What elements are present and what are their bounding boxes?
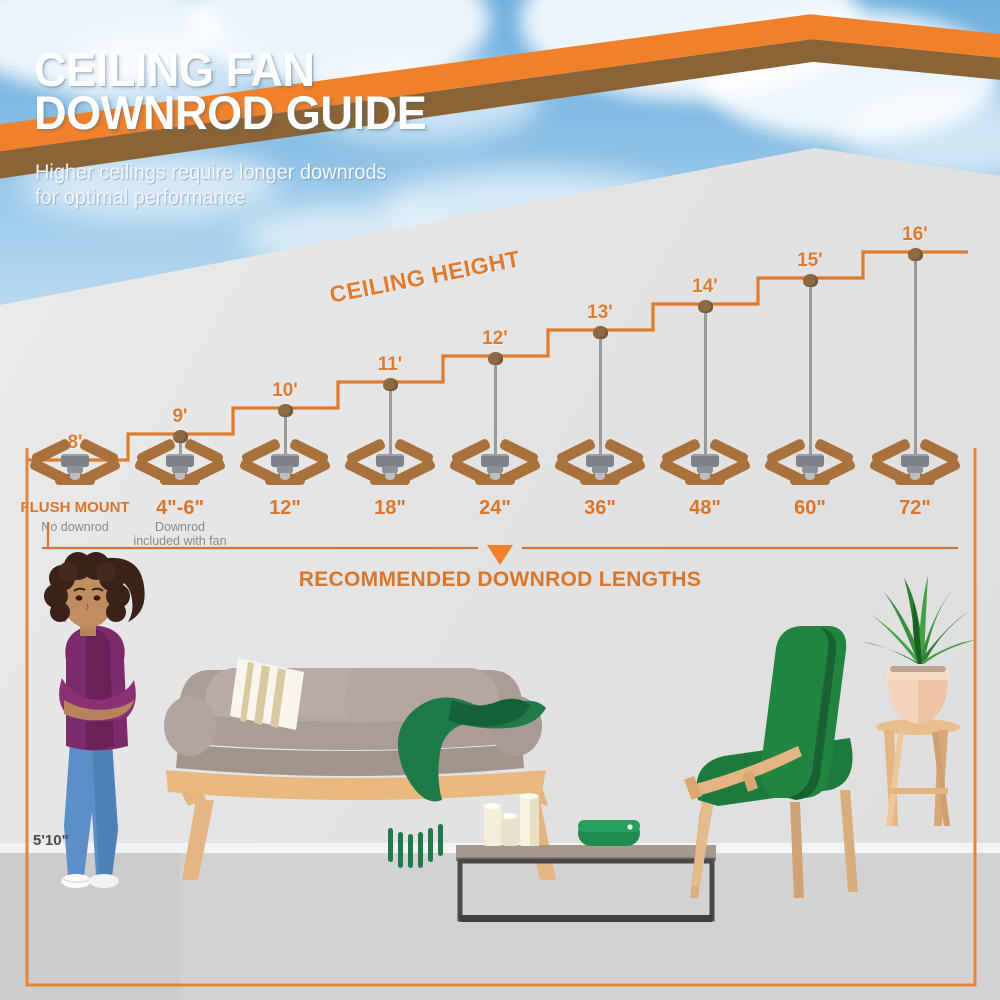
- infographic-canvas: CEILING FAN DOWNROD GUIDE Higher ceiling…: [0, 0, 1000, 1000]
- green-bowl: [578, 820, 640, 846]
- room-scene: [0, 0, 1000, 1000]
- person-height-label: 5'10": [33, 832, 69, 849]
- coffee-table: [456, 845, 716, 922]
- plant-stand: [876, 719, 960, 826]
- candle-group: [484, 793, 540, 846]
- potted-aloe-plant: [862, 576, 976, 724]
